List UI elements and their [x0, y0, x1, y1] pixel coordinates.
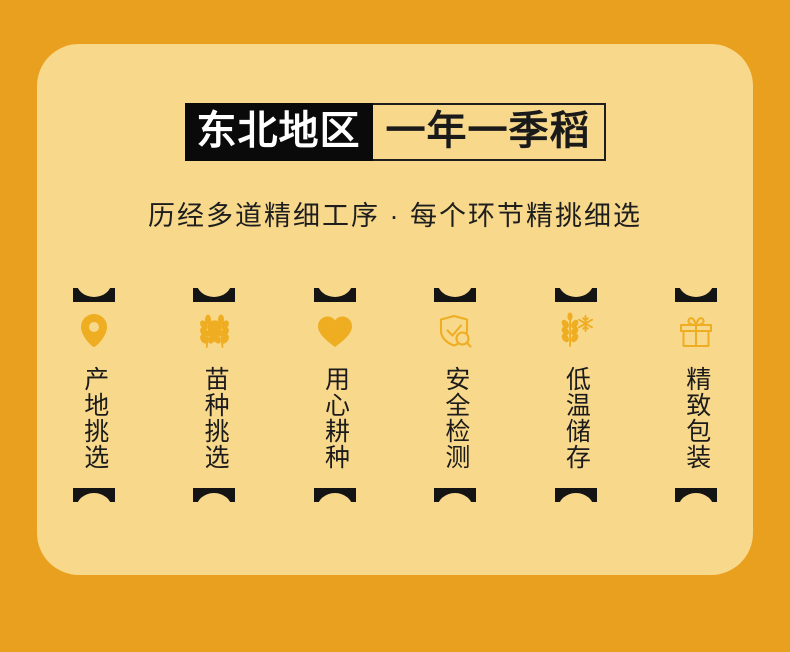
bracket-top-icon — [434, 288, 476, 302]
bracket-top-icon — [555, 288, 597, 302]
bracket-bottom-icon — [675, 488, 717, 502]
promo-card: 东北地区 一年一季稻 历经多道精细工序 · 每个环节精挑细选 产地挑选 — [37, 44, 753, 575]
headline-rest: 一年一季稻 — [373, 103, 606, 161]
bracket-bottom-icon — [434, 488, 476, 502]
subtitle: 历经多道精细工序 · 每个环节精挑细选 — [37, 194, 753, 233]
feature-label: 苗种挑选 — [200, 357, 230, 479]
feature-item-fine-packaging: 精致包装 — [665, 288, 727, 502]
gift-box-icon — [676, 311, 716, 351]
feature-item-careful-farming: 用心耕种 — [304, 288, 366, 502]
feature-label: 精致包装 — [681, 357, 711, 479]
bracket-bottom-icon — [193, 488, 235, 502]
bracket-bottom-icon — [555, 488, 597, 502]
location-pin-icon — [74, 311, 114, 351]
bracket-top-icon — [73, 288, 115, 302]
feature-item-origin-selection: 产地挑选 — [63, 288, 125, 502]
heart-icon — [315, 311, 355, 351]
headline-highlight: 东北地区 — [185, 103, 373, 161]
feature-label: 安全检测 — [440, 357, 470, 479]
promo-banner: 东北地区 一年一季稻 历经多道精细工序 · 每个环节精挑细选 产地挑选 — [0, 0, 790, 652]
feature-label: 低温储存 — [561, 357, 591, 479]
feature-item-cold-storage: 低温储存 — [545, 288, 607, 502]
bracket-bottom-icon — [314, 488, 356, 502]
bracket-top-icon — [314, 288, 356, 302]
shield-check-search-icon — [435, 311, 475, 351]
feature-item-safety-inspection: 安全检测 — [424, 288, 486, 502]
bracket-bottom-icon — [73, 488, 115, 502]
feature-label: 产地挑选 — [79, 357, 109, 479]
headline: 东北地区 一年一季稻 — [37, 103, 753, 161]
wheat-snowflake-icon — [556, 311, 596, 351]
headline-inner: 东北地区 一年一季稻 — [185, 103, 606, 161]
feature-label: 用心耕种 — [320, 357, 350, 479]
feature-item-seed-selection: 苗种挑选 — [183, 288, 245, 502]
wheat-icon — [194, 311, 234, 351]
bracket-top-icon — [675, 288, 717, 302]
bracket-top-icon — [193, 288, 235, 302]
feature-list: 产地挑选 — [63, 288, 727, 508]
